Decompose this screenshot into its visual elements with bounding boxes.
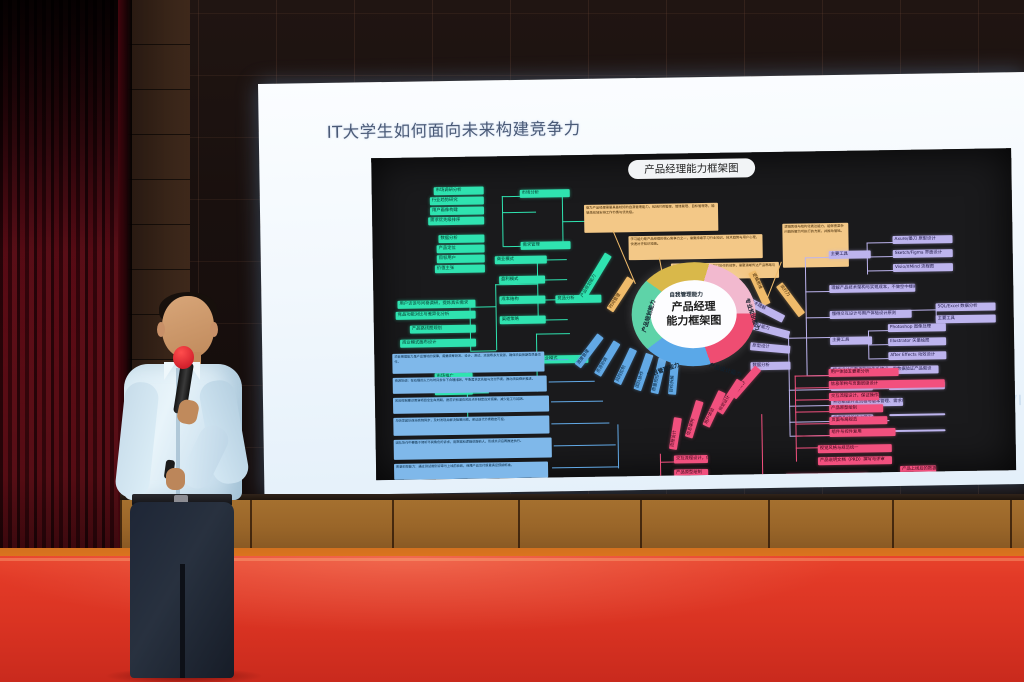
node-pink: 交互流程设计，保证操作路径最短且符合用户心智模型	[674, 455, 708, 464]
node-green: 盈利模式	[499, 276, 545, 285]
node-green: 需求优先级排序	[428, 216, 484, 225]
note-orange: 做为产品经理需要具备较好的自我管理能力，包括时间管理、情绪管理、目标管理等，能够…	[584, 203, 718, 233]
node-green: 竞品功能对比与差异化分析	[396, 311, 476, 320]
note-blue: 资源协调：在有限的人力与时间条件下合理排期，平衡需求优先级与交付节奏，推动项目稳…	[393, 376, 547, 394]
note-orange: 学习能力是产品经理的核心竞争力之一，需要持续学习行业知识、技术趋势与用户心理，快…	[628, 234, 762, 260]
speaker-ear-left	[157, 322, 165, 337]
node-purple: Photoshop 图像处理	[888, 323, 946, 332]
mindmap-board: 产品经理能力框架图 市场调研分析 行业趋势研究 用户画像构建 需求优先级排序	[371, 148, 1016, 480]
node-pink: 产品上线后的数据复盘与版本迭代规划	[900, 465, 936, 474]
node-green: 用户画像构建	[430, 206, 484, 215]
note-orange: 逻辑思维与结构化表达能力，能够把复杂问题拆解为可执行的方案，并推动落地。	[782, 223, 849, 268]
branch-blue: 项目管理能力是产品落地的保障，需要统筹研发、设计、测试、运营等多方资源，确保项目…	[371, 148, 1011, 158]
node-green: 用户访谈与问卷调研，提炼真实需求	[397, 300, 475, 309]
mindmap-header-pill: 产品经理能力框架图	[628, 158, 755, 179]
node-green: 商业模式	[495, 255, 547, 264]
node-green: 成本结构	[499, 296, 545, 305]
note-blue: 团队协作中要善于倾听不同角色的诉求，用数据和逻辑说服他人，形成共识后再推进执行。	[394, 437, 552, 459]
node-green: 市场调研分析	[434, 186, 484, 195]
node-pink: 需求用例与边界条件梳理	[786, 472, 868, 480]
node-pink: 组件与控件复用	[829, 428, 895, 437]
node-purple: Visio/XMind 流程图	[893, 263, 953, 272]
branch-green: 市场调研分析 行业趋势研究 用户画像构建 需求优先级排序 数据分析 产品定位 目…	[371, 148, 1011, 158]
projection-screen: IT大学生如何面向未来构建竞争力 鼎浩 WI 科创产运营 产品经理能力框架图	[258, 72, 1024, 504]
node-purple: 主要工具	[829, 250, 871, 259]
speaker-hand-holding-clicker	[166, 468, 185, 490]
node-pink: 用户体验五要素分析	[829, 368, 899, 377]
node-green: 需求管理	[521, 241, 571, 250]
node-green: 产品定位	[437, 244, 485, 253]
segment-label-product-design: 产品设计能力	[708, 361, 742, 379]
node-green: 产品路线图规划	[410, 325, 476, 334]
wood-panel-wall	[120, 500, 1024, 548]
note-blue: 项目管理能力是产品落地的保障，需要统筹研发、设计、测试、运营等多方资源，确保项目…	[392, 352, 544, 374]
speaker-presenter	[118, 296, 246, 682]
node-purple: 理解产品技术架构与实现成本，不做空中楼阁	[829, 284, 915, 294]
speaker-ear-right	[210, 322, 218, 337]
node-pink: 产品原型绘制	[674, 469, 708, 478]
spoke-pink: 流程设计	[669, 417, 682, 450]
node-pink: 产品说明文档（PRD）撰写与评审	[818, 456, 892, 465]
spoke-purple: 原型设计	[750, 342, 791, 354]
note-blue: 与研发团队保持高频同步，及时发现并解决阻塞问题，保证迭代节奏稳定可控。	[393, 415, 549, 435]
node-purple: After Effects 动效设计	[888, 351, 946, 360]
node-purple: 主要工具	[936, 314, 996, 323]
node-green: 价值主张	[435, 264, 485, 273]
branch-pink: 用户体验五要素分析 信息架构与页面层级设计 交互流程设计，保证操作路径最短且符合…	[371, 148, 1011, 158]
note-blue: 质量把控能力：通过测试用例评审与上线前验收，保障产品交付质量满足预期标准。	[394, 461, 548, 479]
trouser-leg-split	[180, 564, 185, 678]
node-pink: 灰度发布	[900, 477, 936, 480]
spoke-orange: 时间管理	[607, 276, 635, 312]
node-green: 目标用户	[437, 254, 485, 263]
node-purple: 主要工具	[830, 336, 872, 345]
node-pink: 页面布局规范	[829, 416, 887, 425]
branch-orange: 做为产品经理需要具备较好的自我管理能力，包括时间管理、情绪管理、目标管理等，能够…	[371, 148, 1011, 158]
stage-curtain	[0, 0, 128, 560]
spoke-pink: 信息架构	[685, 400, 704, 439]
node-green: 渠道策略	[500, 316, 546, 325]
node-pink: 产品原型绘制	[829, 404, 883, 413]
node-pink: 视觉风格与规范统一	[818, 444, 892, 453]
branch-purple: 主要工具 Axure/墨刀 原型设计 Sketch/Figma 界面设计 Vis…	[371, 148, 1011, 158]
node-green: 数据分析	[438, 234, 484, 243]
node-green: 行业趋势研究	[430, 196, 484, 205]
node-purple: Sketch/Figma 界面设计	[893, 249, 953, 258]
node-green: 市场分析	[520, 189, 570, 198]
node-purple: 懂得交互设计与用户体验设计原则	[830, 310, 912, 320]
spoke-blue: 风险控制	[614, 347, 638, 385]
segment-label-self-management: 自我管理能力	[669, 290, 703, 299]
slide-title: IT大学生如何面向未来构建竞争力	[327, 115, 581, 143]
node-pink: 交互流程设计，保证操作路径最短且符合用户心智模型	[829, 392, 879, 401]
node-purple	[889, 413, 945, 416]
node-green: 商业模式画布设计	[400, 339, 476, 348]
note-blue: 风险控制意识贯穿项目全生命周期，提前识别潜在风险点并制定应对预案，减少返工与延期…	[393, 395, 549, 413]
node-purple: Illustrator 矢量绘图	[888, 337, 946, 346]
node-purple: Axure/墨刀 原型设计	[892, 235, 952, 244]
conference-stage-photo: IT大学生如何面向未来构建竞争力 鼎浩 WI 科创产运营 产品经理能力框架图	[0, 0, 1024, 682]
center-line-1: 产品经理	[671, 300, 715, 314]
node-purple: SQL/Excel 数据分析	[936, 302, 996, 311]
center-line-2: 能力框架图	[666, 314, 721, 329]
